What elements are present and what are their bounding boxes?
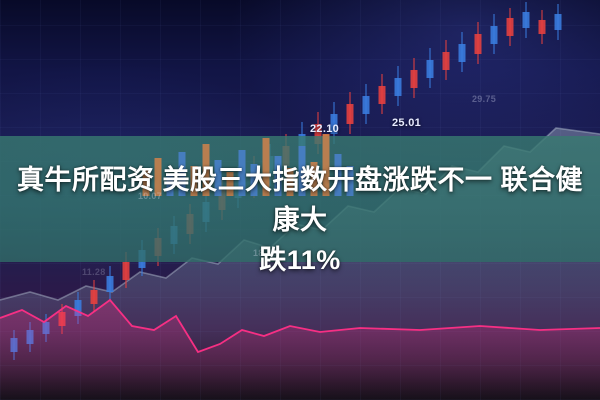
headline-line-1: 真牛所配资 美股三大指数开盘涨跌不一 联合健康大 <box>4 160 596 240</box>
headline-text: 真牛所配资 美股三大指数开盘涨跌不一 联合健康大 跌11% <box>0 160 600 280</box>
price-label: 29.75 <box>472 94 496 104</box>
headline-line-2: 跌11% <box>4 240 596 280</box>
news-thumbnail-image: 22.1025.0129.7510.0718.7511.28 真牛所配资 美股三… <box>0 0 600 400</box>
price-label: 22.10 <box>310 123 339 135</box>
price-label: 25.01 <box>392 117 421 129</box>
